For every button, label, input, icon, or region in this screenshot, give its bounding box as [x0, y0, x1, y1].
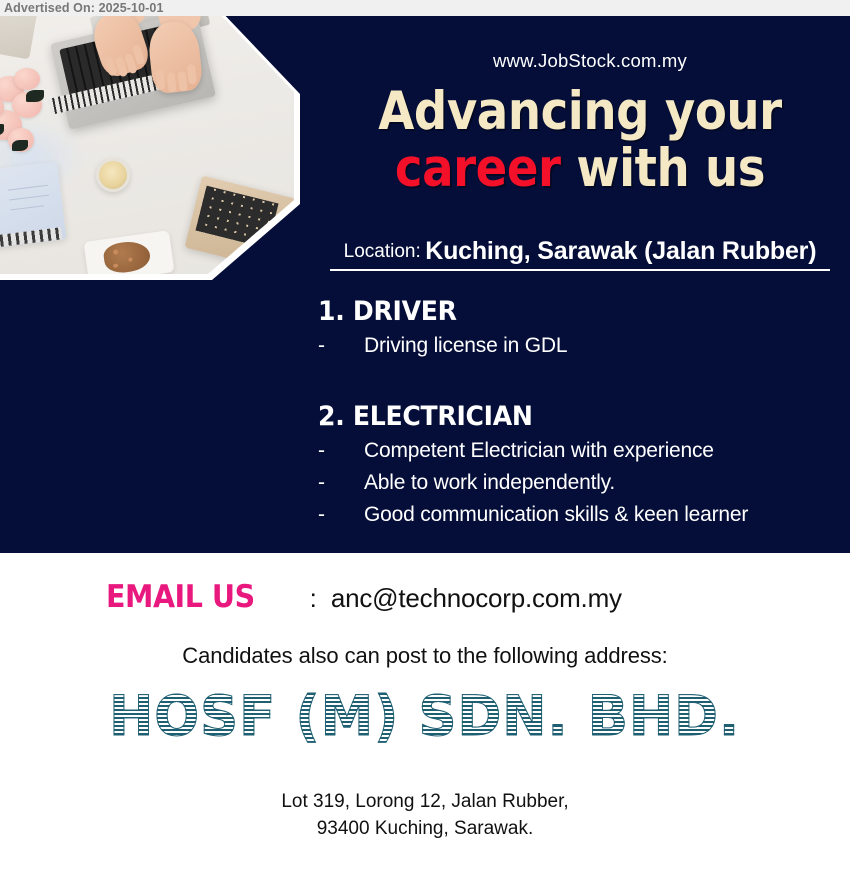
contact-section: EMAIL US : anc@technocorp.com.my Candida…	[0, 553, 850, 872]
requirement-text: Good communication skills & keen learner	[364, 500, 838, 529]
requirement-dash: -	[318, 436, 364, 465]
photo-prop-flowers	[0, 66, 58, 162]
requirement-text: Driving license in GDL	[364, 331, 838, 360]
address-line-2: 93400 Kuching, Sarawak.	[0, 815, 850, 842]
poster-headline: Advancing your career with us	[310, 83, 850, 197]
job-block-driver: 1. DRIVER - Driving license in GDL	[318, 296, 838, 360]
headline-accent-word: career	[395, 138, 561, 199]
requirement-text: Able to work independently.	[364, 468, 838, 497]
desk-photo	[0, 8, 300, 280]
location-row: Location: Kuching, Sarawak (Jalan Rubber…	[330, 237, 830, 271]
headline-line-1: Advancing your	[342, 83, 817, 140]
job-block-electrician: 2. ELECTRICIAN - Competent Electrician w…	[318, 401, 838, 529]
job-requirement: - Good communication skills & keen learn…	[318, 500, 838, 529]
job-requirement: - Driving license in GDL	[318, 331, 838, 360]
company-name-block: HOSF (M) SDN. BHD.	[0, 685, 850, 747]
email-row: EMAIL US : anc@technocorp.com.my	[0, 579, 850, 615]
headline-line-2: career with us	[342, 140, 817, 197]
job-list: 1. DRIVER - Driving license in GDL 2. EL…	[318, 296, 838, 529]
location-label: Location:	[344, 241, 421, 262]
company-address: Lot 319, Lorong 12, Jalan Rubber, 93400 …	[0, 788, 850, 842]
email-separator: :	[310, 583, 317, 614]
poster-navy-panel: www.JobStock.com.my Advancing your caree…	[0, 8, 850, 553]
job-title: 1. DRIVER	[318, 296, 802, 328]
job-title: 2. ELECTRICIAN	[318, 401, 802, 433]
job-requirement: - Able to work independently.	[318, 468, 838, 497]
requirement-text: Competent Electrician with experience	[364, 436, 838, 465]
company-name: HOSF (M) SDN. BHD.	[110, 685, 741, 747]
photo-prop-candle	[96, 158, 130, 192]
advertised-bar: Advertised On: 2025-10-01	[0, 0, 850, 16]
website-url: www.JobStock.com.my	[340, 50, 840, 72]
email-us-label: EMAIL US	[106, 579, 255, 615]
address-line-1: Lot 319, Lorong 12, Jalan Rubber,	[0, 788, 850, 815]
advertised-on-text: Advertised On: 2025-10-01	[4, 0, 164, 16]
job-requirement: - Competent Electrician with experience	[318, 436, 838, 465]
location-value: Kuching, Sarawak (Jalan Rubber)	[425, 237, 816, 265]
requirement-dash: -	[318, 331, 364, 360]
email-address[interactable]: anc@technocorp.com.my	[331, 583, 622, 614]
post-address-note: Candidates also can post to the followin…	[0, 643, 850, 669]
requirement-dash: -	[318, 468, 364, 497]
headline-line-2-rest: with us	[561, 138, 766, 199]
requirement-dash: -	[318, 500, 364, 529]
photo-image	[0, 8, 294, 274]
